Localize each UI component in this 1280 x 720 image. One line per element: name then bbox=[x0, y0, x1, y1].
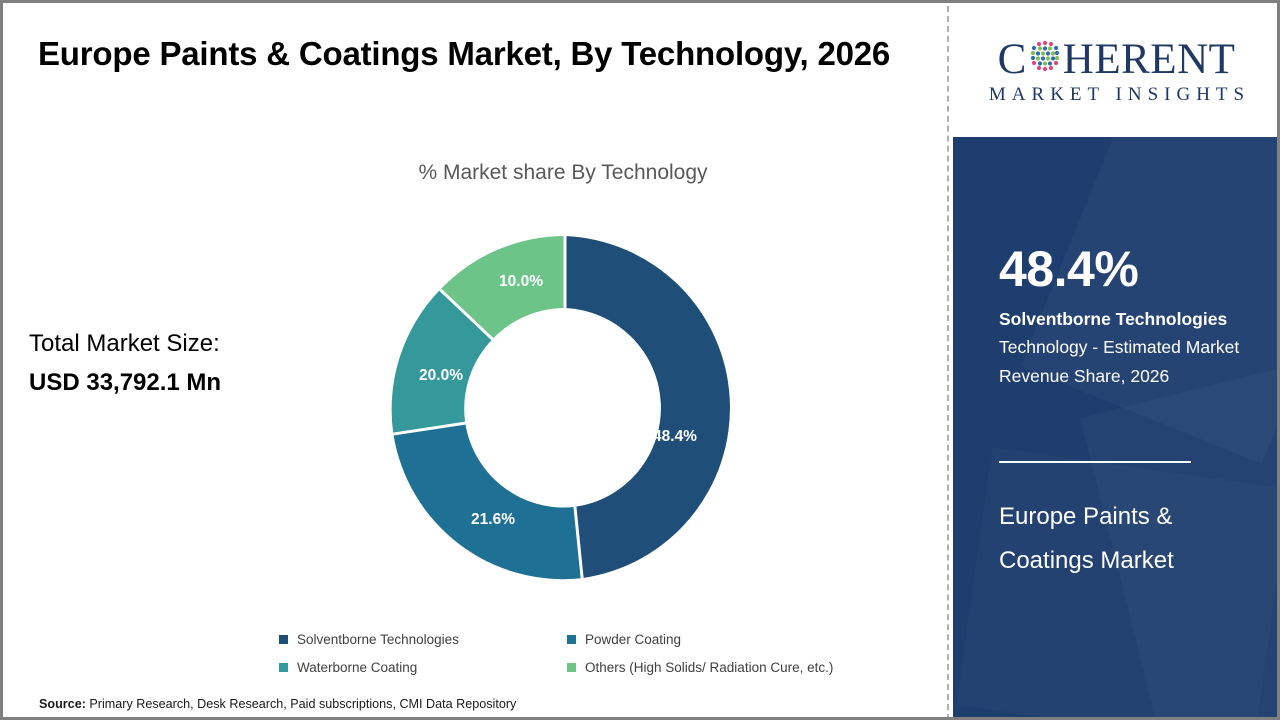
legend-swatch-icon bbox=[567, 635, 576, 644]
legend-item-waterborne[interactable]: Waterborne Coating bbox=[279, 653, 567, 681]
total-market-label: Total Market Size: bbox=[29, 325, 221, 364]
logo-wordmark: C bbox=[998, 38, 1236, 81]
legend-label: Others (High Solids/ Radiation Cure, etc… bbox=[585, 660, 833, 675]
chart-legend: Solventborne Technologies Powder Coating… bbox=[279, 625, 879, 681]
logo-text-c: C bbox=[998, 38, 1027, 81]
legend-swatch-icon bbox=[279, 663, 288, 672]
market-name: Europe Paints & Coatings Market bbox=[999, 495, 1269, 583]
stat-description: Solventborne Technologies Technology - E… bbox=[999, 305, 1261, 390]
donut-label-others: 10.0% bbox=[499, 273, 543, 290]
highlight-panel: 48.4% Solventborne Technologies Technolo… bbox=[953, 137, 1280, 717]
legend-swatch-icon bbox=[567, 663, 576, 672]
stat-highlight-text: Solventborne Technologies bbox=[999, 309, 1227, 329]
source-note: Source: Primary Research, Desk Research,… bbox=[39, 697, 516, 711]
donut-chart: 48.4% 21.6% 20.0% 10.0% bbox=[391, 234, 739, 582]
dotted-globe-icon bbox=[1028, 38, 1062, 81]
total-market-size: Total Market Size: USD 33,792.1 Mn bbox=[29, 325, 221, 403]
legend-label: Waterborne Coating bbox=[297, 660, 417, 675]
infographic-page: Europe Paints & Coatings Market, By Tech… bbox=[0, 0, 1280, 720]
legend-label: Powder Coating bbox=[585, 632, 681, 647]
donut-label-waterborne: 20.0% bbox=[419, 367, 463, 384]
legend-swatch-icon bbox=[279, 635, 288, 644]
horizontal-rule bbox=[999, 461, 1191, 463]
source-label: Source: bbox=[39, 697, 86, 711]
logo-text-herent: HERENT bbox=[1063, 38, 1236, 81]
donut-label-powder-coating: 21.6% bbox=[471, 511, 515, 528]
stat-rest-text: Technology - Estimated Market Revenue Sh… bbox=[999, 337, 1239, 385]
legend-label: Solventborne Technologies bbox=[297, 632, 459, 647]
donut-chart-svg: 48.4% 21.6% 20.0% 10.0% bbox=[391, 234, 739, 582]
donut-slice-solventborne[interactable] bbox=[565, 236, 730, 578]
stat-value: 48.4% bbox=[999, 244, 1138, 294]
brand-logo[interactable]: C bbox=[953, 6, 1280, 137]
legend-item-solventborne[interactable]: Solventborne Technologies bbox=[279, 625, 567, 653]
donut-label-solventborne: 48.4% bbox=[653, 428, 697, 445]
panel-divider bbox=[947, 6, 949, 720]
donut-slice-powder-coating[interactable] bbox=[393, 423, 582, 579]
legend-item-powder-coating[interactable]: Powder Coating bbox=[567, 625, 855, 653]
source-text: Primary Research, Desk Research, Paid su… bbox=[89, 697, 516, 711]
page-title: Europe Paints & Coatings Market, By Tech… bbox=[38, 31, 918, 78]
logo-tagline: MARKET INSIGHTS bbox=[989, 84, 1250, 106]
legend-item-others[interactable]: Others (High Solids/ Radiation Cure, etc… bbox=[567, 653, 855, 681]
total-market-value: USD 33,792.1 Mn bbox=[29, 364, 221, 403]
left-content-panel: Europe Paints & Coatings Market, By Tech… bbox=[3, 3, 947, 717]
right-sidebar-panel: C bbox=[953, 3, 1280, 717]
